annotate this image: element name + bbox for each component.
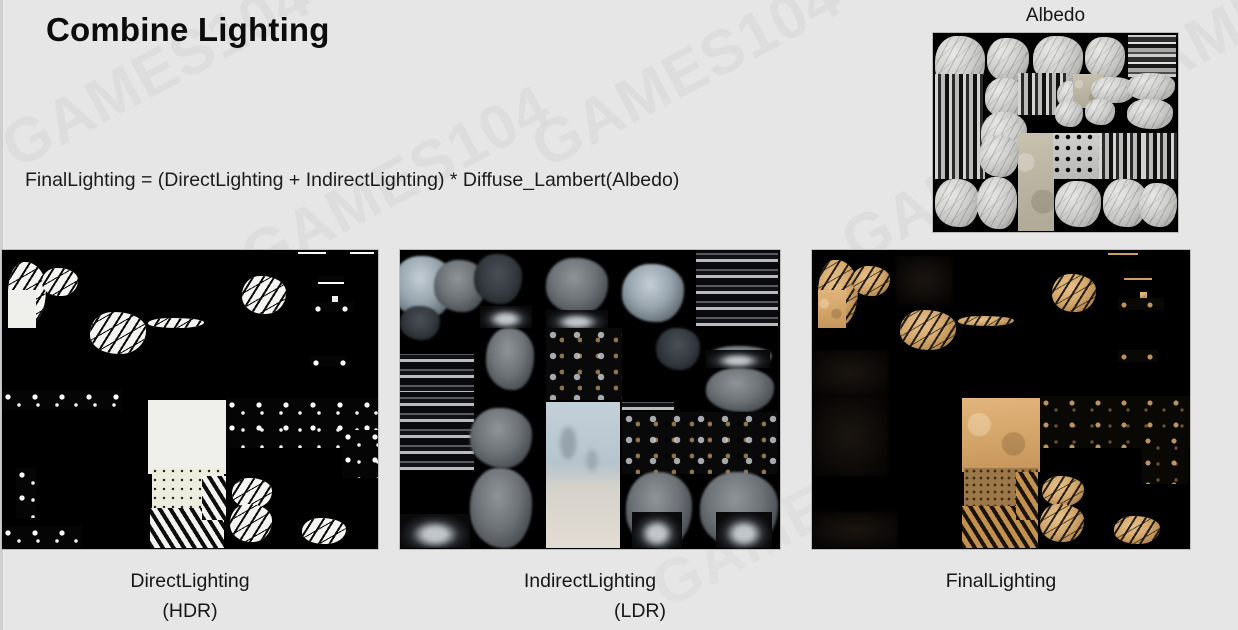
direct-atlas-cells [2,250,378,549]
caption-line-1: DirectLighting [130,570,249,592]
final-lighting-image [812,250,1190,549]
indirect-lighting-caption: IndirectLighting (LDR) [400,566,780,626]
caption-line-2: (LDR) [400,596,780,626]
caption-line-2: (HDR) [2,596,378,626]
caption-line-1: FinalLighting [946,570,1057,592]
formula-line-1: FinalLighting = (DirectLighting + Indire… [25,166,679,194]
final-atlas-cells [812,250,1190,549]
albedo-block: Albedo [933,5,1178,232]
direct-lighting-image [2,250,378,549]
indirect-atlas-cells [400,250,780,549]
direct-lighting-caption: DirectLighting (HDR) [2,566,378,626]
page-title: Combine Lighting [46,11,330,49]
albedo-texture-atlas-image [933,33,1178,232]
albedo-atlas-cells [933,33,1178,232]
caption-line-1: IndirectLighting [524,570,656,592]
final-lighting-caption: FinalLighting [812,566,1190,596]
albedo-caption: Albedo [933,5,1178,27]
indirect-lighting-image [400,250,780,549]
